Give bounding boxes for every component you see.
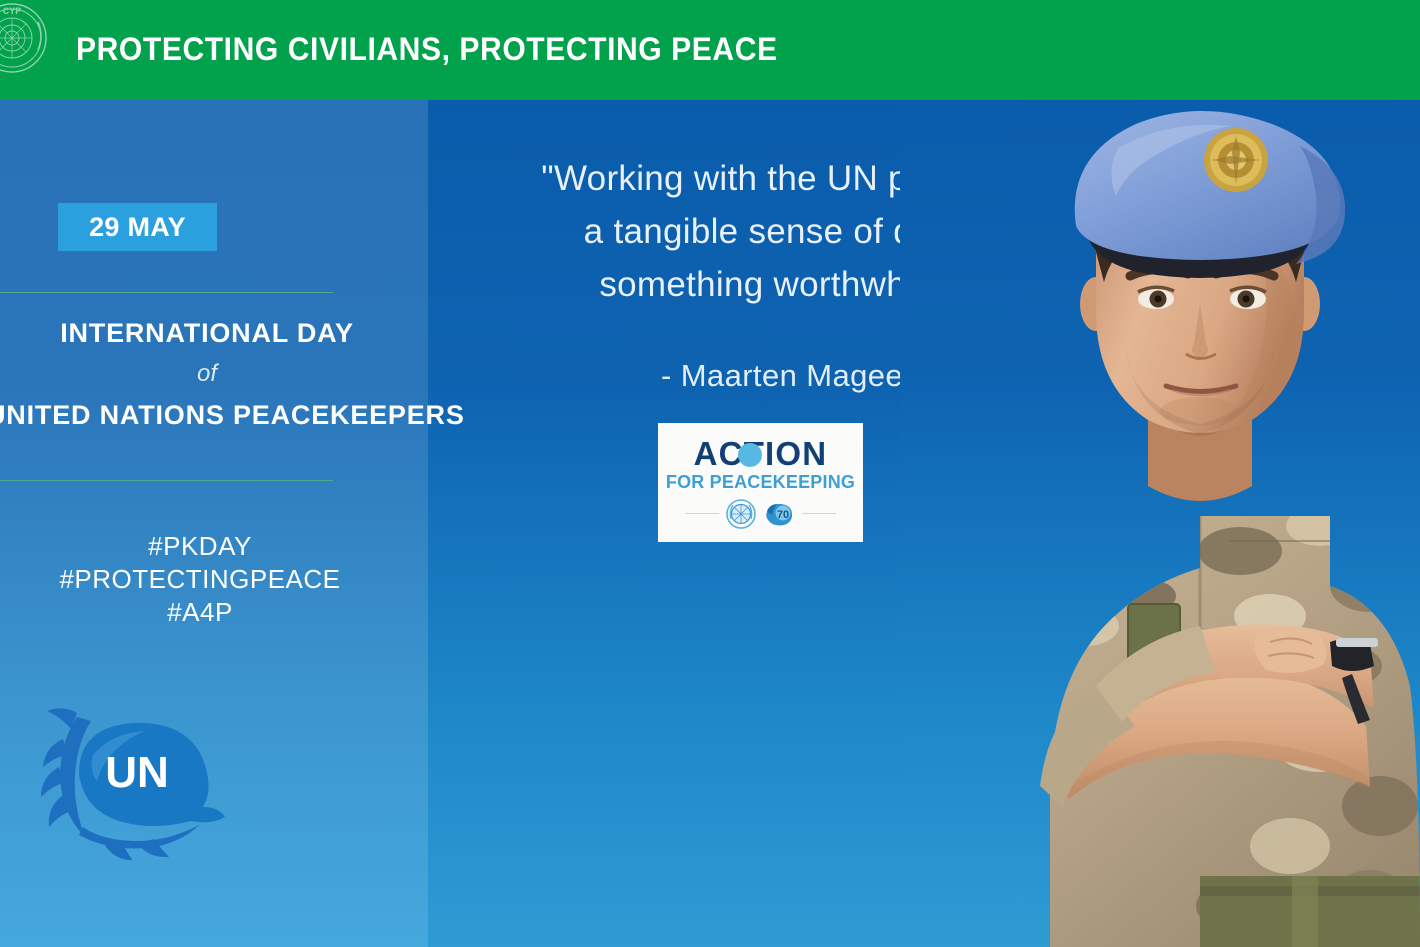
a4p-main-text-wrap: ACTION (694, 437, 828, 471)
svg-text:70: 70 (777, 509, 789, 521)
un-peacekeeper-portrait: RA (900, 86, 1420, 947)
a4p-sub-text: FOR PEACEKEEPING (666, 472, 855, 493)
title-connector: of (0, 360, 428, 388)
a4p-rule-left (685, 513, 719, 514)
action-for-peacekeeping-logo: ACTION FOR PEACEKEEPING 70 (658, 423, 863, 542)
divider-top (0, 292, 333, 293)
hashtag-item: #A4P (0, 596, 414, 629)
a4p-emblem-row: 70 (658, 499, 863, 529)
un-logo-text: UN (105, 748, 169, 797)
divider-bottom (0, 480, 333, 481)
hashtag-item: #PKDAY (0, 530, 414, 563)
hashtag-item: #PROTECTINGPEACE (0, 563, 414, 596)
svg-text:CYP: CYP (3, 6, 22, 16)
date-badge: 29 MAY (58, 203, 217, 251)
a4p-rule-right (802, 513, 836, 514)
title-line-2: UNITED NATIONS PEACEKEEPERS (0, 400, 428, 431)
poster-canvas: RA (0, 0, 1420, 947)
page-title: INTERNATIONAL DAY of UNITED NATIONS PEAC… (0, 318, 428, 431)
date-badge-label: 29 MAY (89, 212, 186, 243)
unficyp-emblem-icon: CYP (0, 2, 48, 74)
title-line-1: INTERNATIONAL DAY (0, 318, 428, 349)
un-peacekeeper-helmet-logo: UN (33, 695, 243, 860)
header-bar: CYP PROTECTING CIVILIANS, PROTECTING PEA… (0, 0, 1420, 100)
un-emblem-icon (726, 499, 756, 529)
un70-anniversary-emblem-icon: 70 (763, 500, 795, 528)
hashtag-list: #PKDAY #PROTECTINGPEACE #A4P (0, 530, 414, 629)
a4p-accent-dot-icon (738, 443, 762, 467)
header-title: PROTECTING CIVILIANS, PROTECTING PEACE (76, 31, 778, 68)
left-info-panel: 29 MAY INTERNATIONAL DAY of UNITED NATIO… (0, 100, 428, 947)
